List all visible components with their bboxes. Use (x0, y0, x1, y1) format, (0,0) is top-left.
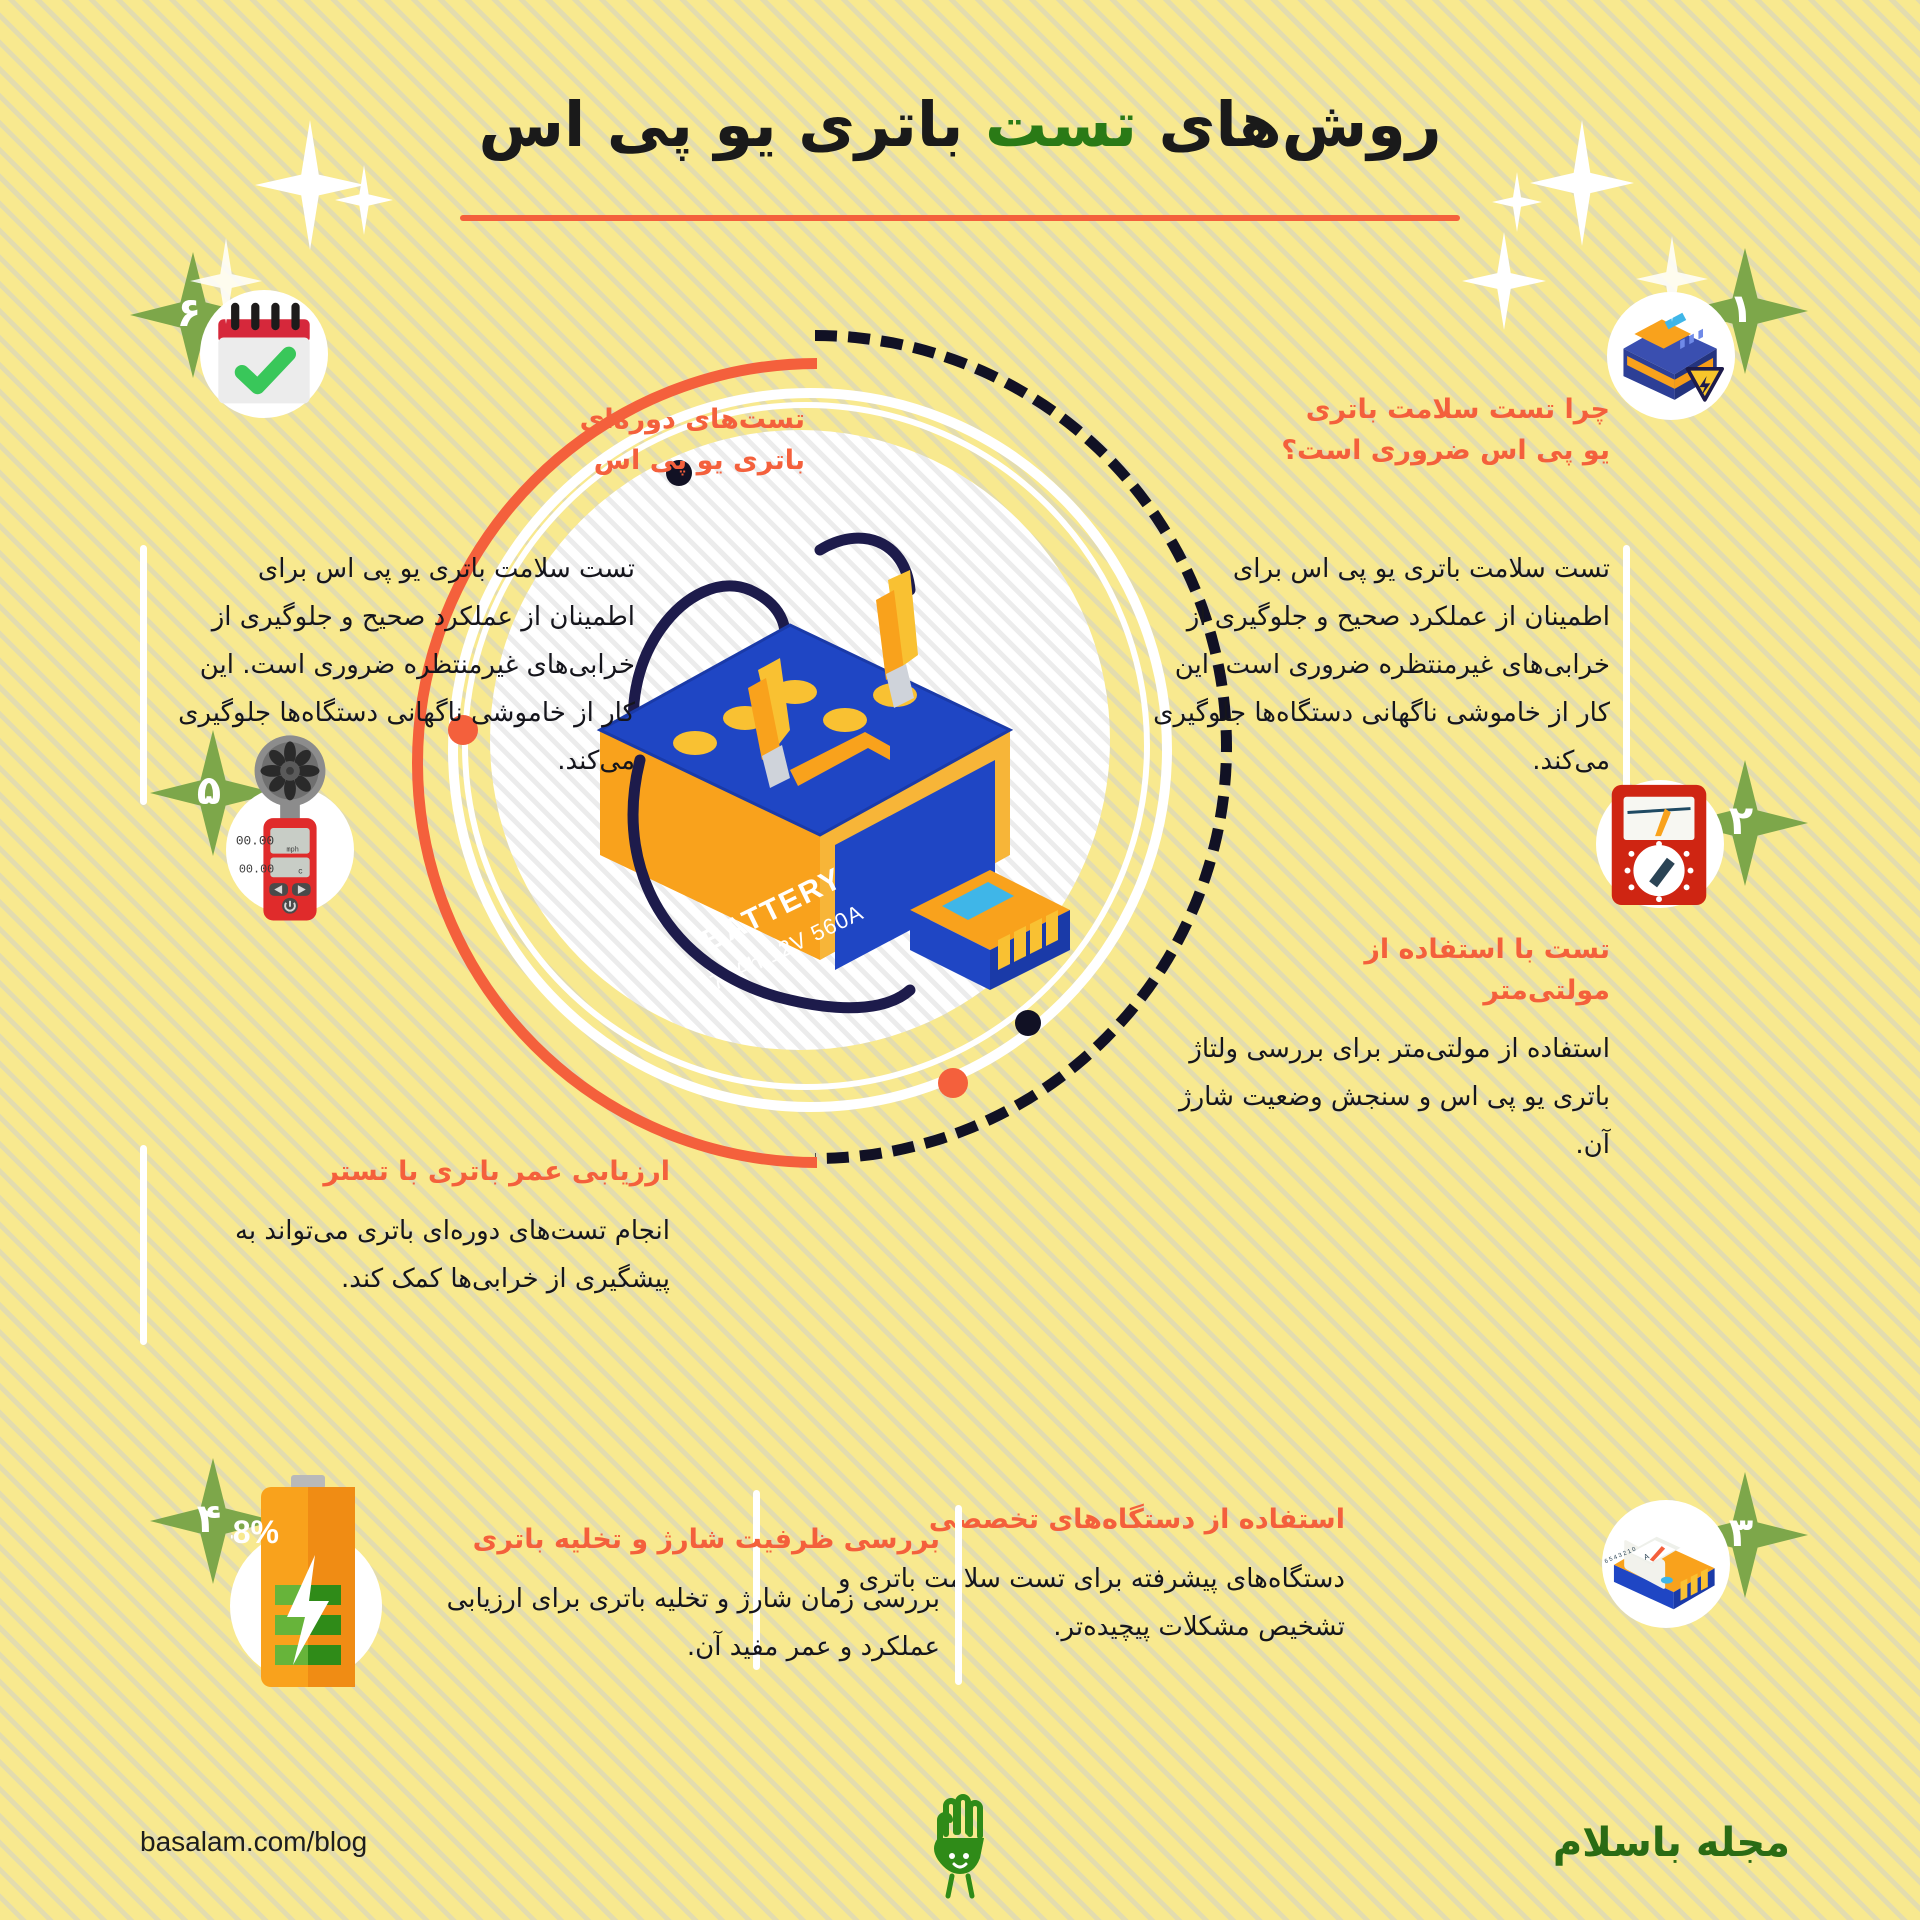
tester-display-unit-top: mph (286, 847, 298, 855)
page-title: روش‌های تست باتری یو پی اس (478, 88, 1441, 162)
section-5-heading: ارزیابی عمر باتری با تستر (160, 1152, 670, 1193)
infographic-page: روش‌های تست باتری یو پی اس (0, 0, 1920, 1920)
battery-level-value: 48% (231, 1514, 279, 1550)
multimeter-icon (1596, 774, 1724, 914)
section-4-divider (955, 1505, 962, 1685)
section-5-body: انجام تست‌های دوره‌ای باتری می‌تواند به … (160, 1207, 670, 1303)
sparkle-icon (1462, 232, 1546, 330)
title-block: روش‌های تست باتری یو پی اس (0, 88, 1920, 162)
section-5: ارزیابی عمر باتری با تستر انجام تست‌های … (160, 1152, 670, 1303)
footer-mascot (920, 1790, 1000, 1904)
section-6: تست‌های دوره‌ای باتری یو پی اس (345, 400, 805, 481)
page-title-highlight: تست (985, 88, 1137, 161)
section-3-icon-circle: 0 1 2 3 4 5 6 A (1602, 1500, 1730, 1628)
section-6-heading: تست‌های دوره‌ای باتری یو پی اس (345, 400, 805, 481)
section-1: چرا تست سلامت باتری یو پی اس ضروری است؟ (1130, 390, 1610, 471)
section-4-body: بررسی زمان شارژ و تخلیه باتری برای ارزیا… (380, 1575, 940, 1671)
orange-arc-endpoint-dot (938, 1068, 968, 1098)
section-2-body: استفاده از مولتی‌متر برای بررسی ولتاژ با… (1140, 1025, 1610, 1169)
tester-display-unit-bottom: c (298, 867, 303, 876)
page-title-part-1: روش‌های (1137, 88, 1441, 161)
section-1-divider (1623, 545, 1630, 805)
battery-tester-icon: 00.00 mph 00.00 c (226, 726, 354, 926)
section-2: تست با استفاده از مولتی‌متر استفاده از م… (1140, 930, 1610, 1169)
section-5-icon-circle: 00.00 mph 00.00 c (226, 786, 354, 914)
sparkle-icon (1492, 172, 1542, 232)
title-underline-rule (460, 215, 1460, 221)
tester-display-top: 00.00 (236, 834, 274, 849)
footer-logo[interactable]: مجله باسلام (1553, 1820, 1790, 1866)
tester-display-bottom: 00.00 (239, 862, 274, 876)
page-title-part-2: باتری یو پی اس (478, 88, 985, 161)
section-2-heading: تست با استفاده از مولتی‌متر (1140, 930, 1610, 1011)
section-4-icon-circle: 48% (230, 1530, 382, 1682)
section-1-body-wrap: تست سلامت باتری یو پی اس برای اطمینان از… (1140, 545, 1610, 785)
section-2-icon-circle (1596, 780, 1724, 908)
hand-mascot-icon (920, 1790, 1000, 1900)
sparkle-icon (335, 165, 393, 235)
analyzer-device-icon: 0 1 2 3 4 5 6 A (1602, 1499, 1730, 1629)
footer-url[interactable]: basalam.com/blog (140, 1826, 367, 1858)
section-6-icon-circle (200, 290, 328, 418)
section-4: بررسی ظرفیت شارژ و تخلیه باتری بررسی زما… (380, 1520, 940, 1671)
section-4-heading: بررسی ظرفیت شارژ و تخلیه باتری (380, 1520, 940, 1561)
section-1-heading: چرا تست سلامت باتری یو پی اس ضروری است؟ (1130, 390, 1610, 471)
section-1-body: تست سلامت باتری یو پی اس برای اطمینان از… (1140, 545, 1610, 785)
battery-level-icon: 48% (231, 1469, 381, 1699)
section-5-divider (140, 1145, 147, 1345)
calendar-check-icon (200, 284, 328, 424)
